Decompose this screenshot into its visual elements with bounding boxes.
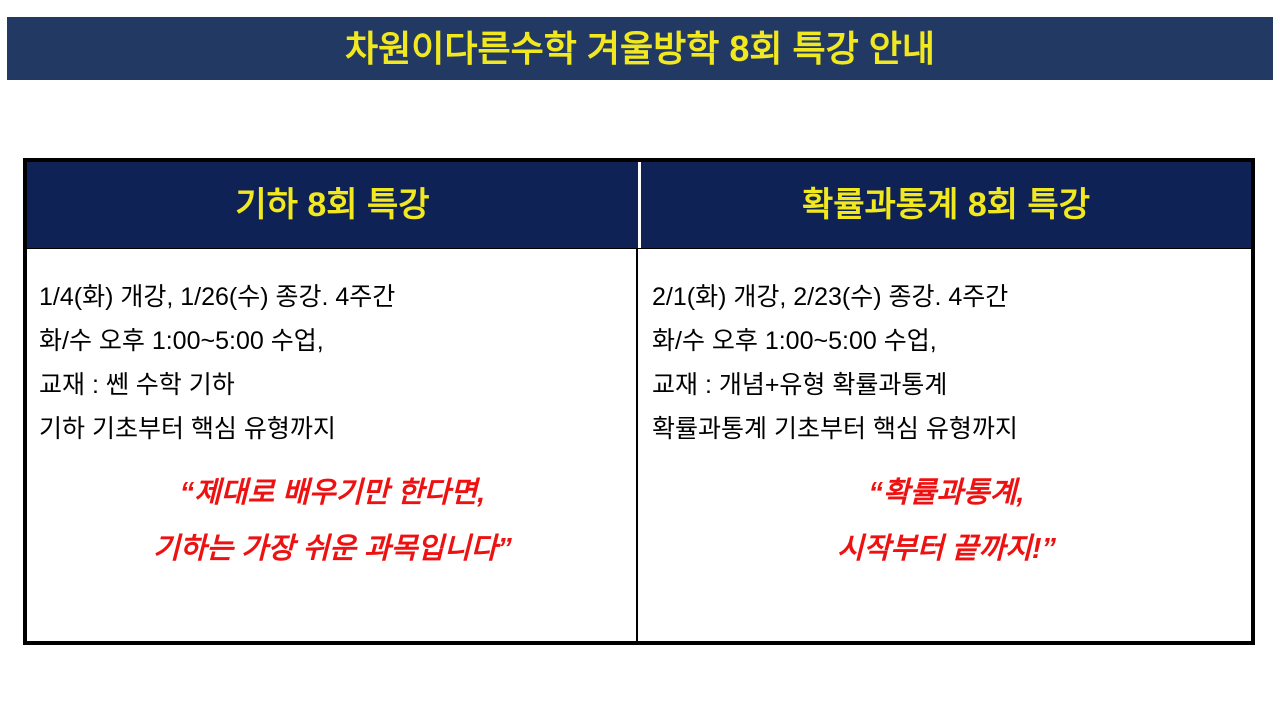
table-body-row: 1/4(화) 개강, 1/26(수) 종강. 4주간 화/수 오후 1:00~5… [27, 248, 1251, 641]
quote-line: 시작부터 끝까지!” [652, 521, 1241, 577]
info-line: 2/1(화) 개강, 2/23(수) 종강. 4주간 [652, 275, 1251, 319]
column-header-geometry: 기하 8회 특강 [27, 162, 638, 248]
column-header-probability-statistics: 확률과통계 8회 특강 [641, 162, 1251, 248]
table-header-row: 기하 8회 특강 확률과통계 8회 특강 [27, 162, 1251, 248]
info-line: 기하 기초부터 핵심 유형까지 [39, 407, 636, 451]
column-body-probability-statistics: 2/1(화) 개강, 2/23(수) 종강. 4주간 화/수 오후 1:00~5… [638, 249, 1251, 641]
quote-line: 기하는 가장 쉬운 과목입니다” [39, 521, 626, 577]
info-line: 화/수 오후 1:00~5:00 수업, [39, 319, 636, 363]
column-header-probability-statistics-label: 확률과통계 8회 특강 [802, 188, 1090, 222]
quote-line: “확률과통계, [652, 465, 1241, 521]
column-body-geometry: 1/4(화) 개강, 1/26(수) 종강. 4주간 화/수 오후 1:00~5… [27, 249, 638, 641]
title-banner: 차원이다른수학 겨울방학 8회 특강 안내 [7, 17, 1273, 80]
geometry-quote: “제대로 배우기만 한다면, 기하는 가장 쉬운 과목입니다” [39, 465, 636, 577]
probability-statistics-quote: “확률과통계, 시작부터 끝까지!” [652, 465, 1251, 577]
info-line: 확률과통계 기초부터 핵심 유형까지 [652, 407, 1251, 451]
info-line: 화/수 오후 1:00~5:00 수업, [652, 319, 1251, 363]
info-line: 교재 : 쎈 수학 기하 [39, 363, 636, 407]
info-line: 교재 : 개념+유형 확률과통계 [652, 363, 1251, 407]
course-comparison-table: 기하 8회 특강 확률과통계 8회 특강 1/4(화) 개강, 1/26(수) … [23, 158, 1255, 645]
page-title: 차원이다른수학 겨울방학 8회 특강 안내 [345, 31, 935, 67]
quote-line: “제대로 배우기만 한다면, [39, 465, 626, 521]
info-line: 1/4(화) 개강, 1/26(수) 종강. 4주간 [39, 275, 636, 319]
column-header-geometry-label: 기하 8회 특강 [235, 188, 429, 222]
